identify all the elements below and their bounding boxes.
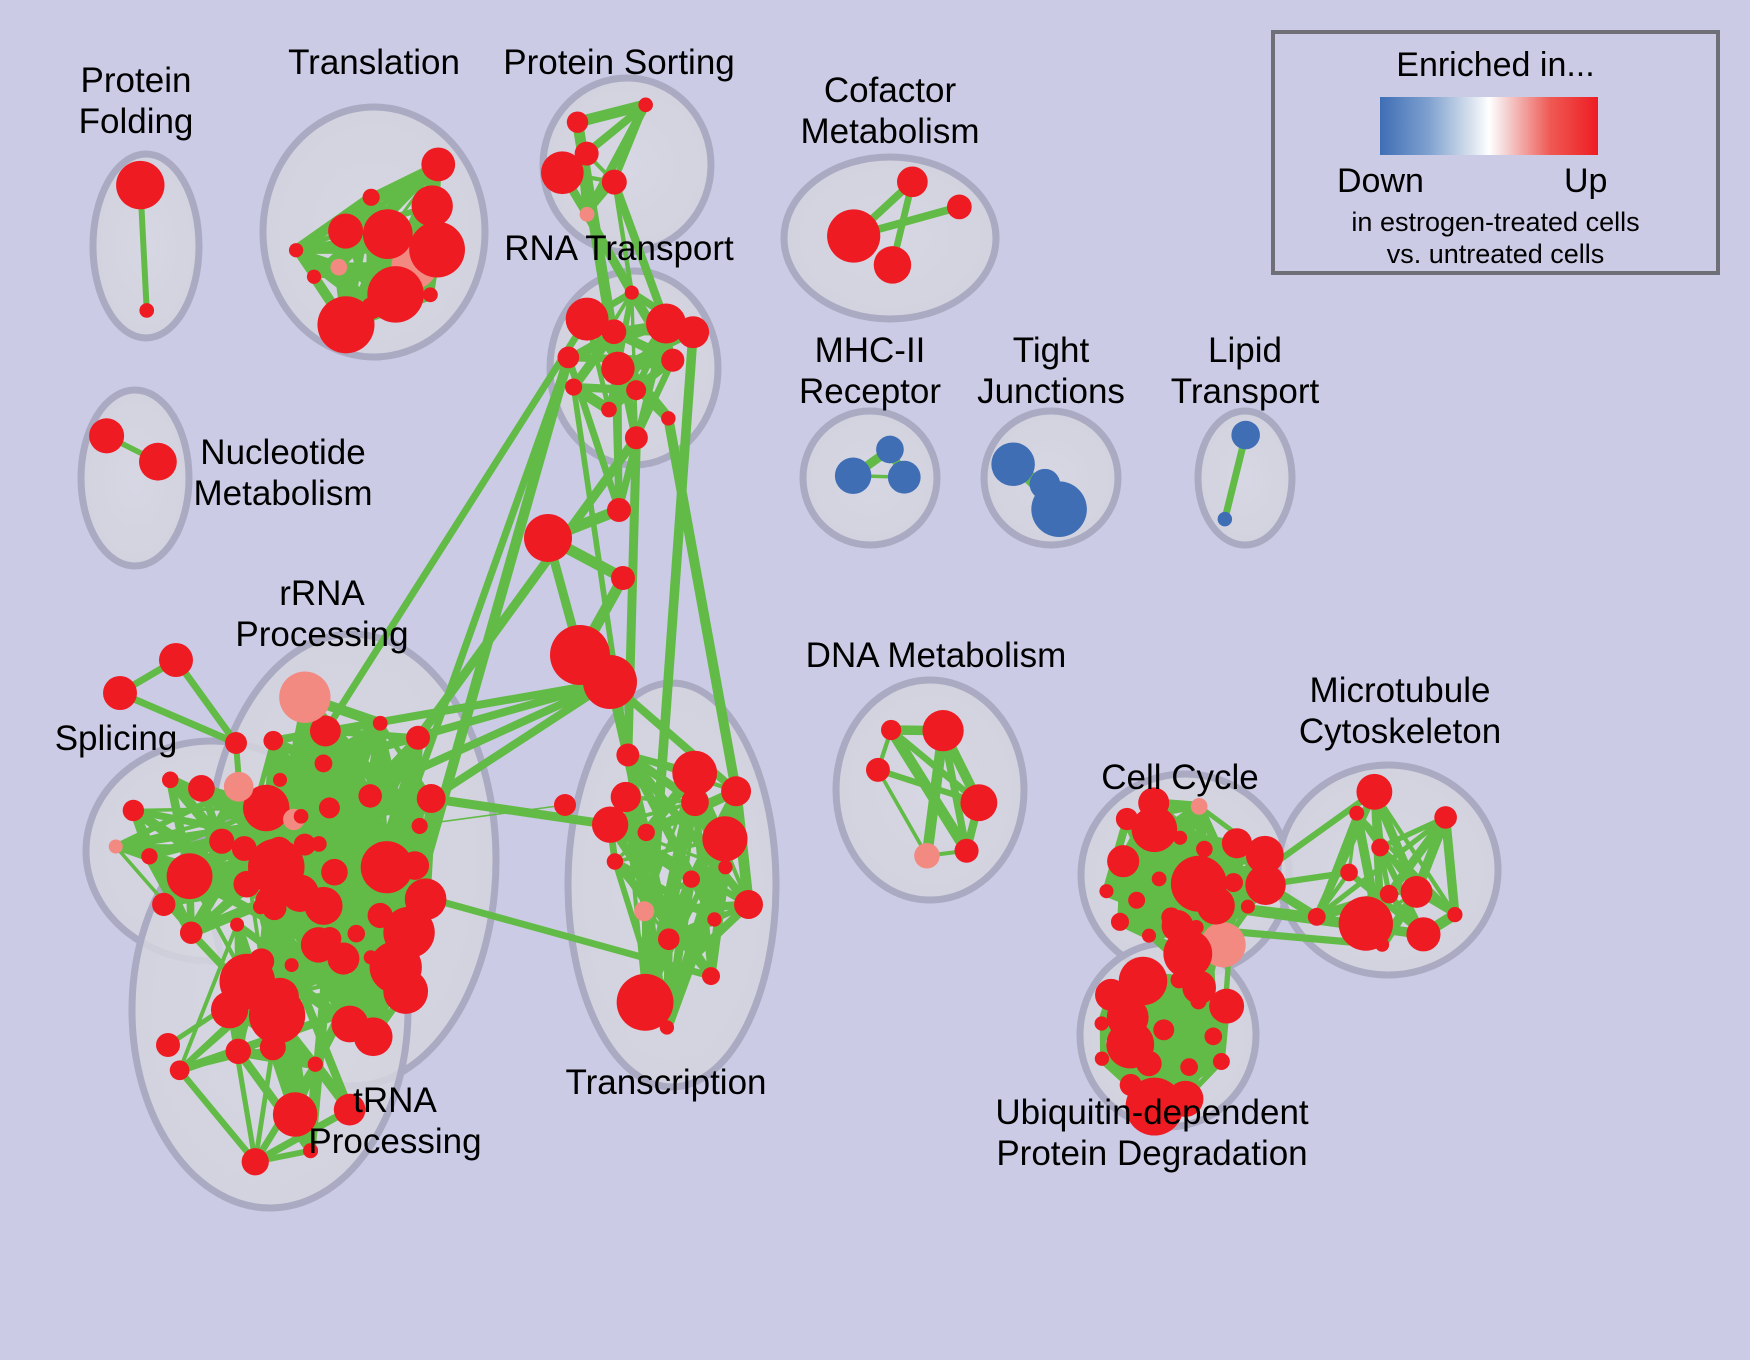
- legend-up-label: Up: [1564, 162, 1607, 201]
- graph-node: [285, 958, 299, 972]
- graph-node: [616, 744, 639, 767]
- graph-node: [1349, 806, 1364, 821]
- graph-node: [702, 816, 747, 861]
- graph-node: [1167, 1081, 1203, 1117]
- graph-node: [354, 1017, 393, 1056]
- graph-node: [876, 436, 904, 464]
- graph-node: [289, 243, 303, 257]
- legend-caption: in estrogen-treated cells vs. untreated …: [1275, 206, 1716, 270]
- graph-node: [677, 316, 709, 348]
- graph-node: [707, 912, 721, 926]
- graph-node: [718, 860, 732, 874]
- graph-node: [1340, 864, 1358, 882]
- graph-node: [922, 710, 963, 751]
- graph-node: [827, 209, 880, 262]
- graph-node: [1153, 1019, 1174, 1040]
- graph-node: [318, 927, 341, 950]
- graph-node: [1224, 873, 1243, 892]
- network-diagram-canvas: Protein FoldingTranslationProtein Sortin…: [0, 0, 1750, 1360]
- graph-node: [991, 442, 1035, 486]
- graph-node: [1116, 808, 1138, 830]
- graph-node: [602, 170, 627, 195]
- graph-node: [960, 784, 997, 821]
- graph-node: [1375, 938, 1389, 952]
- graph-node: [405, 878, 447, 920]
- graph-node: [162, 772, 179, 789]
- graph-node: [368, 903, 393, 928]
- graph-node: [1308, 908, 1326, 926]
- graph-node: [170, 1060, 190, 1080]
- graph-node: [672, 751, 717, 796]
- graph-node: [1138, 787, 1169, 818]
- graph-node: [279, 672, 330, 723]
- graph-node: [1095, 1052, 1109, 1066]
- graph-node: [583, 655, 637, 709]
- graph-node: [1128, 892, 1145, 909]
- graph-node: [412, 818, 428, 834]
- graph-node: [566, 298, 609, 341]
- graph-node: [249, 987, 305, 1043]
- graph-node: [330, 259, 347, 276]
- graph-node: [1356, 774, 1392, 810]
- graph-node: [319, 797, 340, 818]
- graph-node: [592, 807, 628, 843]
- graph-node: [116, 161, 164, 209]
- graph-node: [305, 887, 343, 925]
- graph-node: [1191, 798, 1208, 815]
- graph-node: [1246, 836, 1284, 874]
- graph-node: [328, 213, 363, 248]
- graph-node: [1380, 885, 1399, 904]
- graph-node: [634, 901, 654, 921]
- graph-node: [1107, 845, 1139, 877]
- graph-node: [914, 843, 940, 869]
- graph-node: [109, 840, 123, 854]
- graph-node: [103, 676, 137, 710]
- graph-node: [897, 166, 928, 197]
- graph-node: [370, 941, 422, 993]
- graph-node: [421, 148, 455, 182]
- graph-node: [1196, 841, 1213, 858]
- graph-node: [347, 925, 365, 943]
- graph-node: [209, 829, 234, 854]
- graph-node: [1406, 917, 1440, 951]
- graph-node: [661, 411, 675, 425]
- graph-node: [888, 461, 921, 494]
- graph-node: [607, 853, 623, 869]
- graph-node: [152, 893, 175, 916]
- graph-node: [226, 1039, 251, 1064]
- graph-node: [263, 731, 283, 751]
- graph-node: [1182, 971, 1216, 1005]
- graph-node: [1031, 481, 1087, 537]
- graph-node: [361, 297, 383, 319]
- graph-node: [601, 352, 634, 385]
- legend-box: Enriched in... Down Up in estrogen-treat…: [1271, 30, 1720, 275]
- graph-node: [638, 824, 655, 841]
- cluster-ellipse-cofactor-metabolism: [784, 157, 996, 319]
- graph-node: [363, 209, 413, 259]
- graph-node: [1231, 421, 1260, 450]
- cluster-ellipse-nucleotide-metabolism: [81, 390, 189, 566]
- graph-node: [1173, 831, 1187, 845]
- graph-node: [580, 207, 595, 222]
- graph-node: [835, 458, 871, 494]
- graph-node: [1095, 1016, 1109, 1030]
- graph-node: [321, 859, 348, 886]
- graph-node: [373, 716, 388, 731]
- graph-node: [242, 1148, 269, 1175]
- graph-node: [955, 839, 979, 863]
- graph-node: [625, 426, 648, 449]
- graph-node: [557, 347, 579, 369]
- graph-node: [947, 195, 972, 220]
- graph-node: [866, 758, 890, 782]
- graph-node: [721, 776, 751, 806]
- graph-node: [334, 1094, 366, 1126]
- graph-node: [225, 732, 247, 754]
- graph-node: [159, 643, 193, 677]
- graph-node: [1434, 806, 1457, 829]
- graph-node: [139, 443, 177, 481]
- graph-node: [188, 775, 215, 802]
- graph-node: [1213, 1053, 1230, 1070]
- graph-node: [224, 772, 254, 802]
- graph-node: [874, 246, 911, 283]
- graph-node: [683, 870, 700, 887]
- graph-node: [180, 921, 202, 943]
- graph-node: [423, 287, 438, 302]
- graph-node: [211, 991, 248, 1028]
- graph-node: [363, 189, 380, 206]
- graph-node: [625, 286, 639, 300]
- graph-node: [1111, 913, 1129, 931]
- graph-node: [409, 222, 465, 278]
- graph-node: [1197, 887, 1235, 925]
- graph-node: [358, 784, 382, 808]
- graph-node: [626, 380, 646, 400]
- graph-node: [294, 809, 309, 824]
- graph-node: [303, 1143, 318, 1158]
- graph-node: [660, 1020, 674, 1034]
- graph-node: [167, 853, 213, 899]
- graph-node: [1218, 512, 1232, 526]
- graph-node: [1401, 876, 1433, 908]
- graph-node: [273, 1092, 318, 1137]
- graph-edge: [618, 368, 619, 510]
- graph-node: [575, 142, 599, 166]
- graph-node: [611, 566, 635, 590]
- graph-node: [638, 98, 653, 113]
- graph-node: [567, 111, 588, 132]
- graph-node: [1180, 1058, 1198, 1076]
- graph-node: [308, 1057, 323, 1072]
- graph-node: [406, 726, 430, 750]
- graph-node: [1371, 839, 1389, 857]
- graph-node: [881, 720, 901, 740]
- graph-node: [1204, 1028, 1222, 1046]
- graph-node: [554, 794, 576, 816]
- graph-node: [315, 755, 333, 773]
- graph-node: [1241, 900, 1255, 914]
- graph-node: [607, 498, 631, 522]
- graph-node: [412, 185, 453, 226]
- graph-node: [89, 418, 124, 453]
- graph-node: [611, 782, 641, 812]
- graph-node: [565, 378, 582, 395]
- graph-node: [273, 773, 287, 787]
- graph-node: [307, 270, 321, 284]
- graph-node: [311, 836, 327, 852]
- graph-node: [524, 514, 572, 562]
- graph-node: [1106, 1021, 1154, 1069]
- graph-node: [601, 402, 617, 418]
- graph-node: [262, 896, 286, 920]
- graph-node: [702, 967, 720, 985]
- legend-title: Enriched in...: [1275, 46, 1716, 85]
- graph-node: [417, 784, 446, 813]
- graph-node: [139, 303, 154, 318]
- legend-color-bar: [1380, 97, 1598, 155]
- graph-node: [661, 349, 684, 372]
- graph-node: [734, 890, 763, 919]
- graph-node: [1152, 872, 1167, 887]
- graph-node: [1447, 907, 1462, 922]
- graph-node: [1119, 957, 1168, 1006]
- graph-node: [230, 918, 244, 932]
- graph-node: [361, 841, 413, 893]
- legend-down-label: Down: [1337, 162, 1424, 201]
- graph-node: [156, 1033, 180, 1057]
- graph-node: [123, 800, 144, 821]
- graph-node: [1142, 929, 1156, 943]
- graph-node: [1162, 910, 1194, 942]
- graph-node: [141, 848, 157, 864]
- graph-node: [1099, 884, 1113, 898]
- graph-node: [658, 928, 680, 950]
